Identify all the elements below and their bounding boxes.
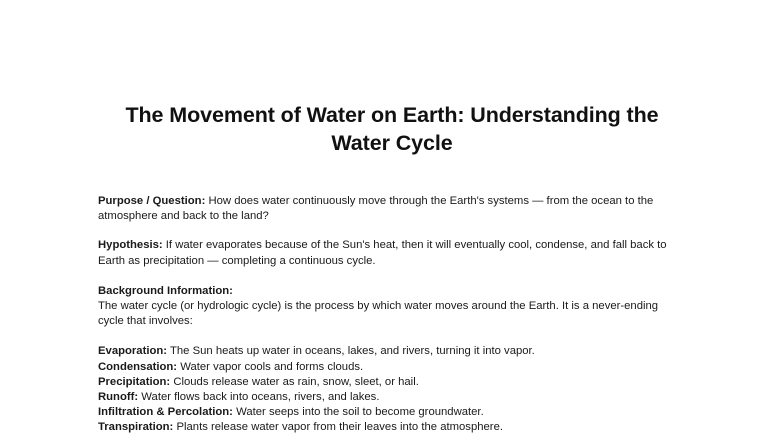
- stage-term: Condensation:: [98, 361, 177, 373]
- document-content: The Movement of Water on Earth: Understa…: [98, 0, 686, 436]
- hypothesis-body: If water evaporates because of the Sun's…: [98, 239, 667, 266]
- stage-description: Water flows back into oceans, rivers, an…: [138, 391, 379, 403]
- list-item: Condensation: Water vapor cools and form…: [98, 360, 686, 375]
- stage-description: Water vapor cools and forms clouds.: [177, 361, 363, 373]
- list-item: Evaporation: The Sun heats up water in o…: [98, 344, 686, 359]
- hypothesis-label: Hypothesis:: [98, 239, 163, 251]
- stage-term: Evaporation:: [98, 345, 167, 357]
- background-section: Background Information: The water cycle …: [98, 284, 686, 330]
- stage-term: Transpiration:: [98, 421, 173, 433]
- list-item: Precipitation: Clouds release water as r…: [98, 375, 686, 390]
- stage-description: Clouds release water as rain, snow, slee…: [170, 376, 419, 388]
- page-title: The Movement of Water on Earth: Understa…: [98, 0, 686, 157]
- list-item: Runoff: Water flows back into oceans, ri…: [98, 390, 686, 405]
- stage-term: Precipitation:: [98, 376, 170, 388]
- background-body: The water cycle (or hydrologic cycle) is…: [98, 299, 686, 329]
- document-page: The Movement of Water on Earth: Understa…: [0, 0, 784, 441]
- purpose-label: Purpose / Question:: [98, 195, 205, 207]
- stage-description: Water seeps into the soil to become grou…: [233, 406, 484, 418]
- purpose-paragraph: Purpose / Question: How does water conti…: [98, 194, 686, 224]
- hypothesis-paragraph: Hypothesis: If water evaporates because …: [98, 238, 686, 268]
- stage-description: The Sun heats up water in oceans, lakes,…: [167, 345, 535, 357]
- list-item: Transpiration: Plants release water vapo…: [98, 420, 686, 435]
- list-item: Infiltration & Percolation: Water seeps …: [98, 405, 686, 420]
- background-heading: Background Information:: [98, 284, 686, 299]
- stage-description: Plants release water vapor from their le…: [173, 421, 503, 433]
- stage-term: Infiltration & Percolation:: [98, 406, 233, 418]
- stage-term: Runoff:: [98, 391, 138, 403]
- water-cycle-stage-list: Evaporation: The Sun heats up water in o…: [98, 344, 686, 435]
